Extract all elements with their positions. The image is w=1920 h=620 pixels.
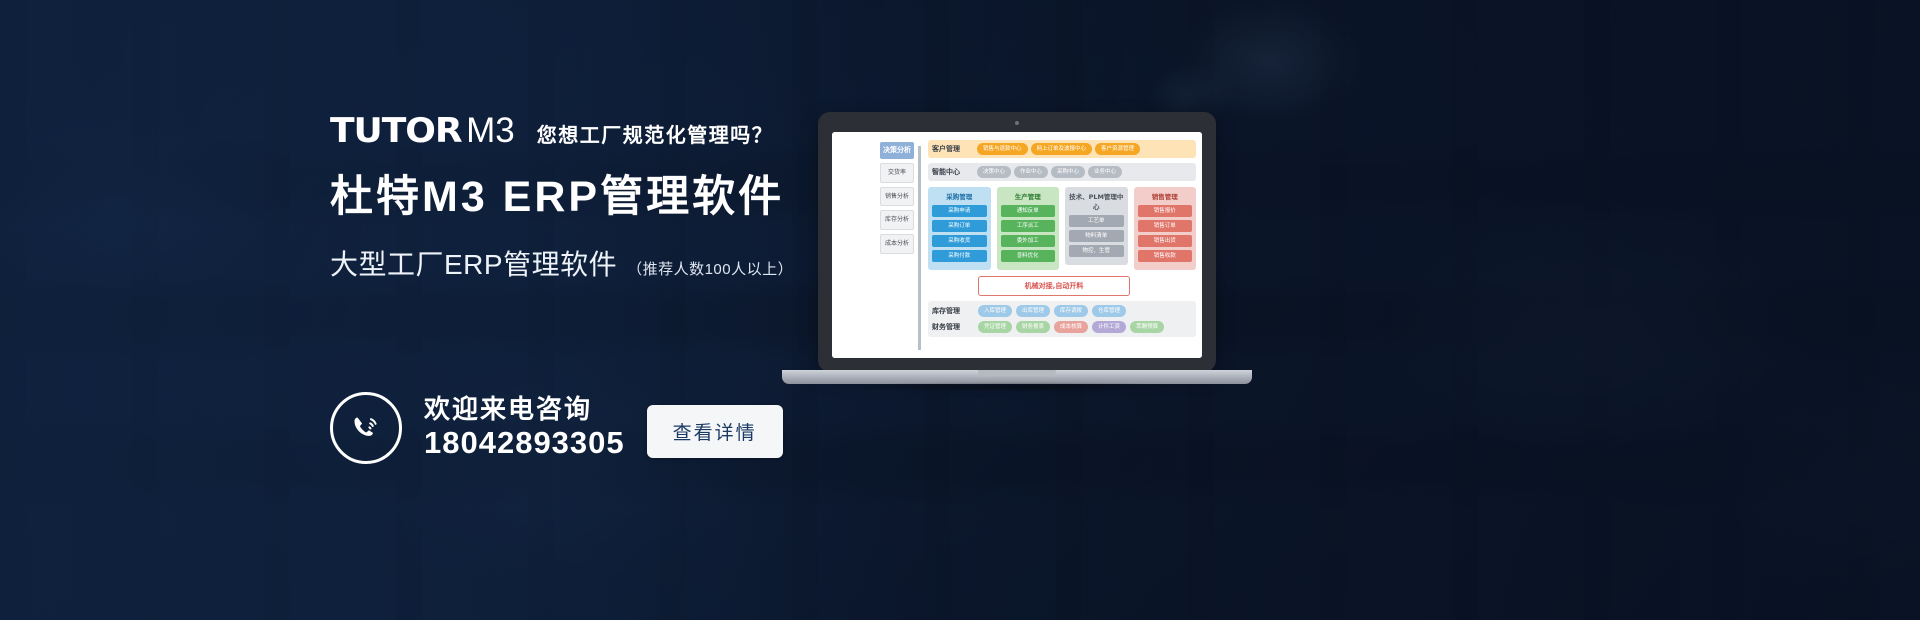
subtitle-note: （推荐人数100人以上） — [627, 258, 793, 279]
column-chip: 工序派工 — [1001, 220, 1056, 232]
copy-block: TUTOR M3 您想工厂规范化管理吗？ 杜特M3 ERP管理软件 大型工厂ER… — [330, 104, 850, 283]
brand-logo-m3: M3 — [466, 113, 515, 148]
column-chip: 采购收货 — [932, 235, 987, 247]
diagram-column-sales: 销售管理 销售报价 销售订单 销售出货 销售收款 — [1134, 187, 1197, 270]
laptop-notch — [978, 370, 1056, 376]
diagram-bottom-section: 库存管理 入库管理 出库管理 库存调拨 仓库管理 财务管理 凭证管理 财务报表 … — [928, 301, 1196, 337]
column-chip: 물料优化 — [1001, 250, 1056, 262]
laptop-lid: 决策分析 交货率 销售分析 库存分析 成本分析 客户管理 销售与退款中心 网上订… — [818, 112, 1216, 372]
band-pill: 凭证管理 — [978, 321, 1012, 333]
diagram-band-smart: 智能中心 决策中心 作业中心 采购中心 业务中心 — [928, 163, 1196, 181]
laptop-mockup: 决策分析 交货率 销售分析 库存分析 成本分析 客户管理 销售与退款中心 网上订… — [782, 112, 1252, 392]
laptop-shadow — [770, 380, 1264, 394]
band-label: 智能中心 — [932, 167, 974, 177]
column-chip: 工艺单 — [1069, 215, 1124, 227]
contact-row: 欢迎来电咨询 18042893305 查看详情 — [330, 392, 783, 464]
brand-tagline: 您想工厂规范化管理吗？ — [537, 126, 774, 148]
band-label: 财务管理 — [932, 322, 974, 332]
band-pill: 决策中心 — [977, 166, 1011, 178]
rail-item: 销售分析 — [880, 187, 914, 207]
logo-row: TUTOR M3 您想工厂规范化管理吗？ — [330, 104, 850, 148]
band-pill: 销售与退款中心 — [977, 143, 1028, 155]
diagram-column-production: 生产管理 通知反单 工序派工 委外加工 물料优化 — [997, 187, 1060, 270]
left-darken-panel — [0, 0, 860, 620]
laptop-screen: 决策分析 交货率 销售分析 库存分析 成本分析 客户管理 销售与退款中心 网上订… — [832, 132, 1202, 358]
diagram-band-inventory: 库存管理 入库管理 出库管理 库存调拨 仓库管理 — [932, 305, 1192, 317]
diagram-band-finance: 财务管理 凭证管理 财务报表 成本核算 计件工资 萃酬预算 — [932, 321, 1192, 333]
column-chip: 销售收款 — [1138, 250, 1193, 262]
rail-head: 决策分析 — [880, 142, 914, 159]
band-pill: 财务报表 — [1016, 321, 1050, 333]
band-label: 客户管理 — [932, 144, 974, 154]
contact-welcome: 欢迎来电咨询 — [424, 395, 625, 424]
column-chip: 销售出货 — [1138, 235, 1193, 247]
column-title: 销售管理 — [1138, 191, 1193, 201]
rail-item: 成本分析 — [880, 234, 914, 254]
band-pill: 采购中心 — [1051, 166, 1085, 178]
phone-icon[interactable] — [330, 392, 402, 464]
headline: 杜特M3 ERP管理软件 — [330, 174, 850, 221]
column-chip: 销售报价 — [1138, 205, 1193, 217]
band-pill: 业务中心 — [1088, 166, 1122, 178]
column-chip: 物料清单 — [1069, 230, 1124, 242]
band-pill: 出库管理 — [1016, 305, 1050, 317]
rail-item: 库存分析 — [880, 210, 914, 230]
diagram-highlight-banner: 机械对接,自动开料 — [978, 276, 1130, 296]
diagram-spine — [918, 146, 921, 350]
diagram-column-technology: 技术、PLM管理中心 工艺单 物料清单 物控、生管 — [1065, 187, 1128, 265]
webcam-icon — [1015, 121, 1019, 125]
band-pill: 网上订单及波报中心 — [1031, 143, 1093, 155]
diagram-rail: 决策分析 交货率 销售分析 库存分析 成本分析 — [880, 142, 914, 352]
column-chip: 通知反单 — [1001, 205, 1056, 217]
rail-item: 交货率 — [880, 163, 914, 183]
erp-architecture-diagram: 决策分析 交货率 销售分析 库存分析 成本分析 客户管理 销售与退款中心 网上订… — [832, 132, 1202, 358]
subtitle-main: 大型工厂ERP管理软件 — [330, 243, 617, 283]
diagram-main: 客户管理 销售与退款中心 网上订单及波报中心 客户资源管理 智能中心 决策中心 … — [928, 140, 1196, 354]
band-pill: 客户资源管理 — [1095, 143, 1140, 155]
column-chip: 委外加工 — [1001, 235, 1056, 247]
diagram-columns: 采购管理 采购申请 采购订单 采购收货 采购付款 生产管理 通知反单 工序派工 … — [928, 187, 1196, 270]
band-label: 库存管理 — [932, 306, 974, 316]
brand-logo-tutor: TUTOR — [330, 114, 462, 148]
hero-banner: TUTOR M3 您想工厂规范化管理吗？ 杜特M3 ERP管理软件 大型工厂ER… — [0, 0, 1920, 620]
contact-text: 欢迎来电咨询 18042893305 — [424, 395, 625, 461]
column-chip: 采购申请 — [932, 205, 987, 217]
column-title: 采购管理 — [932, 191, 987, 201]
band-pill: 作业中心 — [1014, 166, 1048, 178]
view-details-button[interactable]: 查看详情 — [647, 405, 783, 458]
band-pill: 计件工资 — [1092, 321, 1126, 333]
diagram-column-purchasing: 采购管理 采购申请 采购订单 采购收货 采购付款 — [928, 187, 991, 270]
column-chip: 物控、生管 — [1069, 245, 1124, 257]
column-chip: 采购付款 — [932, 250, 987, 262]
subtitle-row: 大型工厂ERP管理软件 （推荐人数100人以上） — [330, 243, 850, 283]
column-title: 技术、PLM管理中心 — [1069, 191, 1124, 211]
column-chip: 销售订单 — [1138, 220, 1193, 232]
column-title: 生产管理 — [1001, 191, 1056, 201]
band-pill: 库存调拨 — [1054, 305, 1088, 317]
band-pill: 入库管理 — [978, 305, 1012, 317]
contact-phone-number[interactable]: 18042893305 — [424, 425, 625, 461]
band-pill: 成本核算 — [1054, 321, 1088, 333]
diagram-band-customer: 客户管理 销售与退款中心 网上订单及波报中心 客户资源管理 — [928, 140, 1196, 158]
band-pill: 仓库管理 — [1092, 305, 1126, 317]
band-pill: 萃酬预算 — [1130, 321, 1164, 333]
column-chip: 采购订单 — [932, 220, 987, 232]
